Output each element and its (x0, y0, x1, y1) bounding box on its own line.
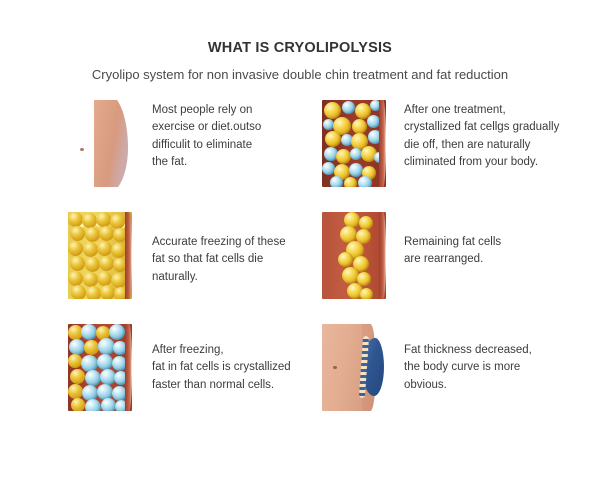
steps-grid: Most people rely on exercise or diet.out… (0, 100, 600, 436)
steps-row-1: Most people rely on exercise or diet.out… (0, 100, 600, 212)
step-card-4: Remaining fat cells are rearranged. (300, 212, 600, 324)
step-card-1: Most people rely on exercise or diet.out… (0, 100, 300, 212)
header: WHAT IS CRYOLIPOLYSIS Cryolipo system fo… (0, 0, 600, 83)
step-6-caption: Fat thickness decreased, the body curve … (386, 324, 532, 394)
page-title: WHAT IS CRYOLIPOLYSIS (0, 40, 600, 57)
infographic-poster: WHAT IS CRYOLIPOLYSIS Cryolipo system fo… (0, 0, 600, 491)
steps-row-2: Accurate freezing of these fat so that f… (0, 212, 600, 324)
step-4-caption: Remaining fat cells are rearranged. (386, 212, 501, 269)
steps-row-3: After freezing, fat in fat cells is crys… (0, 324, 600, 436)
fat-cells-crystallized-dying-image (322, 100, 386, 187)
step-card-6: Fat thickness decreased, the body curve … (300, 324, 600, 436)
page-subtitle: Cryolipo system for non invasive double … (0, 67, 600, 83)
step-3-caption: Accurate freezing of these fat so that f… (132, 212, 286, 286)
step-card-5: After freezing, fat in fat cells is crys… (0, 324, 300, 436)
body-after-applicator-image (322, 324, 386, 411)
step-card-3: Accurate freezing of these fat so that f… (0, 212, 300, 324)
step-2-caption: After one treatment, crystallized fat ce… (386, 100, 559, 172)
fat-cells-rearranged-image (322, 212, 386, 299)
belly-profile-before-image (68, 100, 132, 187)
step-1-caption: Most people rely on exercise or diet.out… (132, 100, 261, 172)
fat-cells-dense-gold-image (68, 212, 132, 299)
fat-cells-frozen-blue-image (68, 324, 132, 411)
step-card-2: After one treatment, crystallized fat ce… (300, 100, 600, 212)
step-5-caption: After freezing, fat in fat cells is crys… (132, 324, 291, 394)
